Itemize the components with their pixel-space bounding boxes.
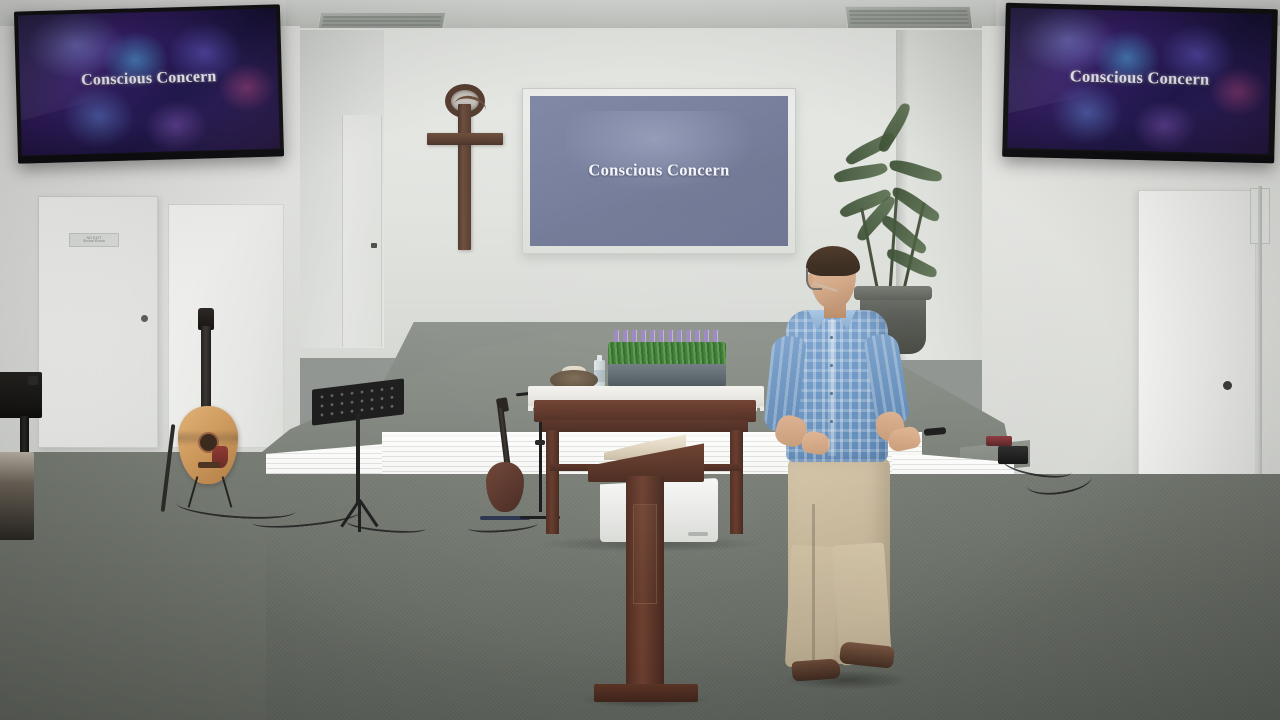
podium-inlay-panel [633,504,657,604]
table-leg [546,430,559,534]
doorknob-icon[interactable] [141,315,148,322]
sanctuary-stage-view: NO EXIT Sound Room Conscious Concern Con… [0,0,1280,720]
ceiling-vent-icon [845,6,974,30]
table-apron [542,420,748,432]
door-sign-line2: Sound Room [83,240,105,243]
podium-base [594,684,698,702]
doorknob-icon[interactable] [1223,381,1232,390]
wall-outlet [28,376,38,385]
right-side-door[interactable] [1138,190,1256,506]
tv-panel: Conscious Concern [18,8,280,155]
guitar-neck [201,326,211,410]
stage-back-door[interactable] [342,115,382,347]
headset-mic-icon [806,268,822,290]
grass-centerpiece [608,342,726,366]
piano-bench [0,452,34,540]
wall-cross [418,78,510,250]
palm-frond [890,183,941,225]
right-wall-tv: Conscious Concern [1002,3,1278,164]
podium-column [626,476,664,692]
planter-box [608,364,726,386]
screen-surface: Conscious Concern [530,96,788,246]
tv-vignette [18,8,280,155]
door-sign: NO EXIT Sound Room [69,233,119,247]
cross-vertical-beam [458,104,471,250]
tv-panel: Conscious Concern [1007,8,1271,154]
palm-frond [888,156,943,185]
wall-conduit [1258,186,1262,506]
left-side-door[interactable]: NO EXIT Sound Room [38,196,158,448]
speaker [762,246,952,708]
wooden-podium [588,440,704,702]
guitar-bridge [198,462,220,468]
center-projection-screen: Conscious Concern [522,88,796,254]
shirt-placket [828,320,836,456]
table-leg [730,430,743,534]
left-wall-tv: Conscious Concern [14,4,284,163]
table-top [534,400,756,422]
stage-equipment-red [986,436,1012,446]
cross-horizontal-beam [427,133,503,145]
tv-vignette [1007,8,1271,154]
pants-seam [812,504,815,662]
acoustic-guitar [172,306,244,506]
guitar-body [178,406,238,484]
palm-frond [833,163,888,183]
screen-slide-title: Conscious Concern [530,161,788,181]
music-stand-pole [356,414,360,504]
speaker-left-shoe [791,658,840,681]
small-guitar-neck [497,408,510,466]
